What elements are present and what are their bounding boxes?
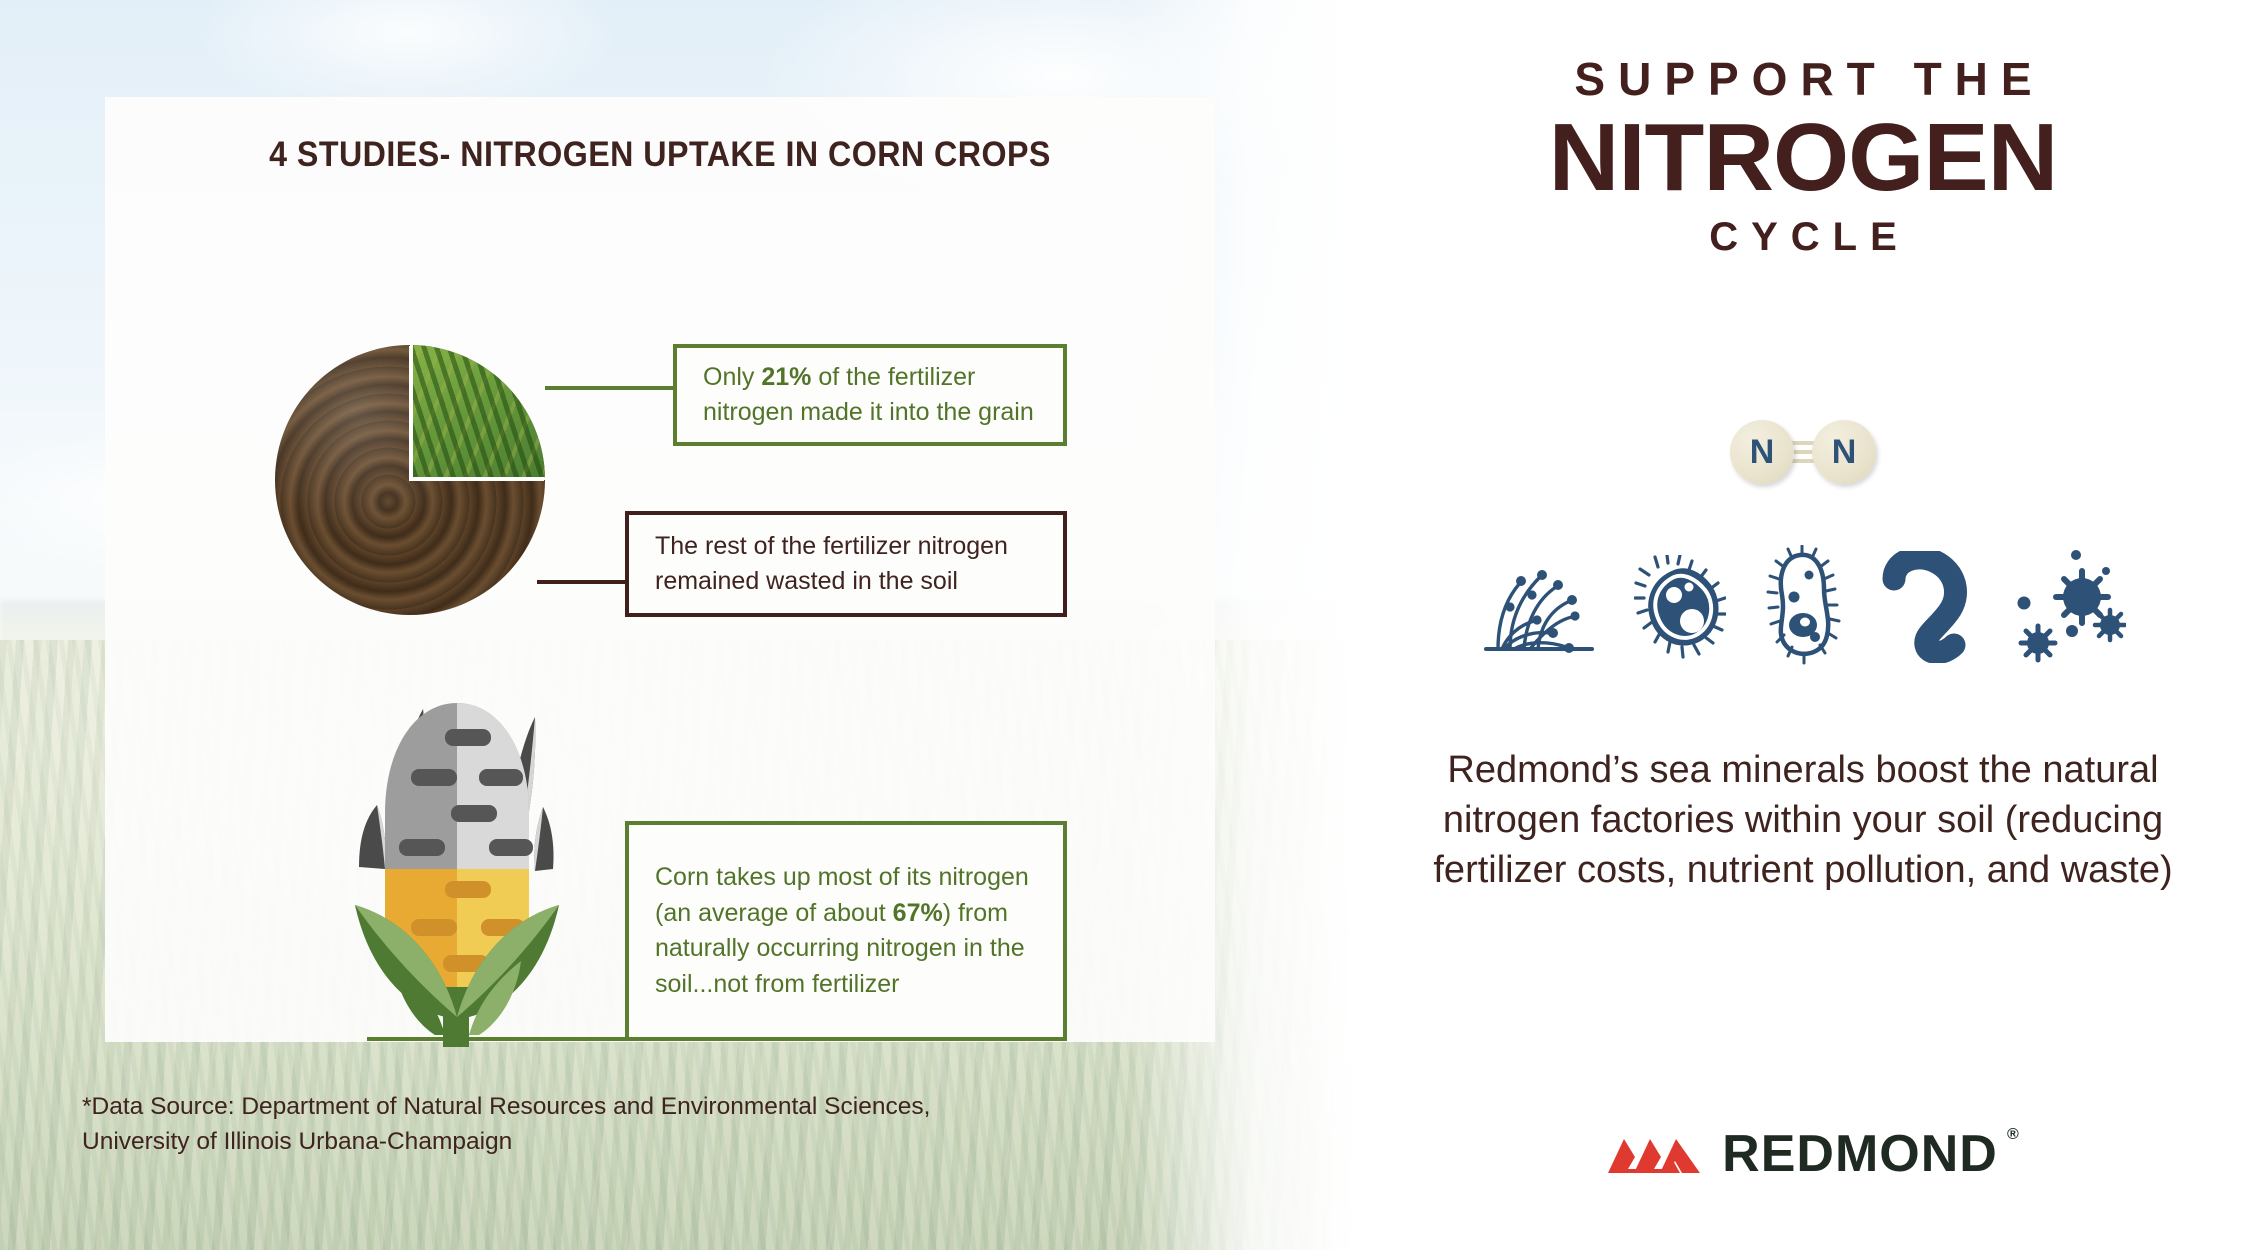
left-photo-panel: 4 STUDIES- NITROGEN UPTAKE IN CORN CROPS…: [0, 0, 1356, 1250]
callout-1-text: Only 21% of the fertilizer nitrogen made…: [677, 360, 1063, 431]
callout-2-text: The rest of the fertilizer nitrogen rema…: [629, 529, 1063, 600]
registered-trademark-icon: ®: [2007, 1126, 2020, 1144]
headline-support-the: SUPPORT THE: [1356, 52, 2250, 106]
headline-cycle: CYCLE: [1356, 215, 2250, 260]
headline-block: SUPPORT THE NITROGEN CYCLE: [1356, 52, 2250, 260]
redmond-logo: REDMOND®: [1356, 1124, 2250, 1184]
nematode-worm-icon: [1882, 551, 1978, 668]
right-message-panel: SUPPORT THE NITROGEN CYCLE N N: [1356, 0, 2250, 1250]
connector-line-1: [545, 386, 675, 390]
callout-3-text: Corn takes up most of its nitrogen (an a…: [629, 860, 1063, 1002]
footnote-line-2: University of Illinois Urbana-Champaign: [82, 1125, 1252, 1160]
body-copy: Redmond’s sea minerals boost the natural…: [1426, 745, 2180, 895]
connector-line-2: [537, 580, 627, 584]
callout-3-value: 67%: [893, 899, 943, 927]
paramecium-icon: [1762, 545, 1846, 674]
soil-microbe-icon-row: [1356, 545, 2250, 674]
card-title: 4 STUDIES- NITROGEN UPTAKE IN CORN CROPS: [149, 135, 1170, 175]
rhizobia-root-hairs-icon: [1480, 559, 1598, 660]
data-source-footnote: *Data Source: Department of Natural Reso…: [82, 1090, 1252, 1160]
redmond-wordmark: REDMOND®: [1722, 1124, 1998, 1184]
callout-box-wasted: The rest of the fertilizer nitrogen rema…: [625, 511, 1067, 617]
callout-box-grain: Only 21% of the fertilizer nitrogen made…: [673, 344, 1067, 446]
nitrogen-molecule-icon: N N: [1356, 420, 2250, 484]
corn-cob-icon: [285, 687, 595, 1047]
grain-wedge: [410, 345, 545, 480]
callout-1-value: 21%: [761, 363, 811, 391]
nitrogen-atom-left: N: [1730, 420, 1794, 484]
callout-box-natural-nitrogen: Corn takes up most of its nitrogen (an a…: [625, 821, 1067, 1041]
redmond-mountains-icon: [1608, 1127, 1712, 1182]
callout-1-pre: Only: [703, 363, 761, 391]
infographic-card: 4 STUDIES- NITROGEN UPTAKE IN CORN CROPS…: [105, 97, 1215, 1042]
nitrogen-atom-right: N: [1812, 420, 1876, 484]
virus-cluster-icon: [2014, 549, 2126, 670]
soil-grain-pie-icon: [275, 345, 545, 615]
bacterium-flagella-icon: [1634, 555, 1726, 664]
headline-nitrogen: NITROGEN: [1347, 108, 2250, 209]
callout-2-pre: The rest of the fertilizer nitrogen rema…: [655, 532, 1008, 596]
footnote-line-1: *Data Source: Department of Natural Reso…: [82, 1090, 1252, 1125]
